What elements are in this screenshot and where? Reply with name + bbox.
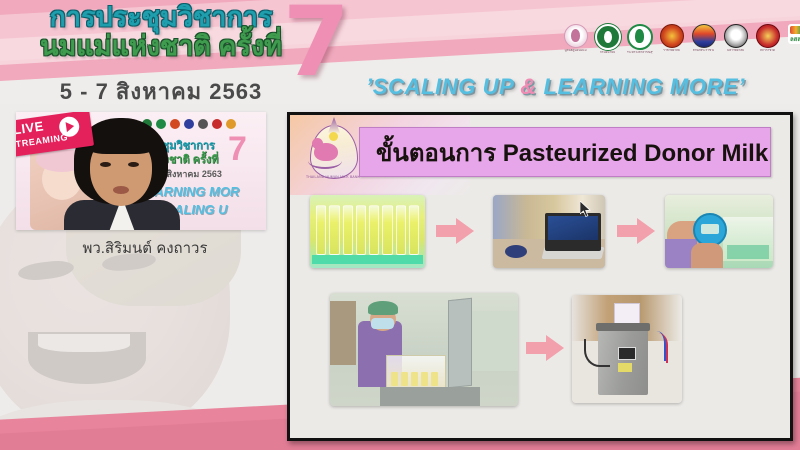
conference-title-line2: นมแม่แห่งชาติ ครั้งที่ [26,33,296,61]
speaker-video-inset[interactable]: การประชุมวิชาการ นมแม่แห่งชาติ ครั้งที่ … [16,112,266,230]
video-backdrop-number: 7 [228,132,247,166]
mouse-cursor [580,201,592,218]
organization-logo-strip: มูลนิธิศูนย์นมแม่ กรมอนามัย กระทรวงสาธาร… [563,24,800,54]
conference-date: 5 - 7 สิงหาคม 2563 [26,74,296,104]
photo-pasteurizer-machine [572,295,682,403]
arrow-step4-to-step5 [526,335,564,361]
university-seal-logo: มหาวิทยาลัย [723,24,748,52]
conference-title-line1: การประชุมวิชาการ [26,4,296,32]
photo-digital-thermometer-timer [665,195,773,268]
human-milk-bank-drop-icon: THAILAND HUMAN MILK BANK [302,123,364,185]
conference-tagline: ’SCALING UP & LEARNING MORE’ [366,74,786,100]
tagline-prefix: ’SCALING UP [366,74,520,99]
royal-emblem-logo: สำนักพระราชวัง [691,24,716,52]
slide-content-panel: THAILAND HUMAN MILK BANK ขั้นตอนการ Past… [287,112,793,441]
edition-number: 7 [283,0,350,90]
arrow-step2-to-step3 [617,218,655,244]
tagline-suffix: LEARNING MORE’ [537,74,745,99]
slide-title-bar: ขั้นตอนการ Pasteurized Donor Milk [359,127,771,177]
ministry-public-health-logo: กรมอนามัย [595,24,620,54]
conference-title: การประชุมวิชาการ นมแม่แห่งชาติ ครั้งที่ [26,4,296,60]
thaihealth-sss-logo [787,24,800,44]
photo-nurse-loading-pasteurizer [330,293,518,406]
thai-breastfeeding-foundation-logo: มูลนิธิศูนย์นมแม่ [563,24,588,52]
header-banner: การประชุมวิชาการ นมแม่แห่งชาติ ครั้งที่ … [0,0,800,104]
slide-screenshot: การประชุมวิชาการ นมแม่แห่งชาติ ครั้งที่ … [0,0,800,450]
drop-logo-caption: THAILAND HUMAN MILK BANK [300,175,366,179]
live-badge-label: LIVE [16,118,45,137]
tagline-ampersand: & [520,74,537,99]
royal-college-logo: ราชวิทยาลัย [659,24,684,52]
arrow-step1-to-step2 [436,218,474,244]
slide-title: ขั้นตอนการ Pasteurized Donor Milk [360,133,768,172]
photo-milk-bottles-rack [310,195,425,268]
red-emblem-logo: สภากาชาด [755,24,780,52]
department-health-logo: กระทรวงสาธารณสุข [627,24,652,54]
speaker-name: พว.สิริมนต์ คงถาวร [20,236,270,260]
